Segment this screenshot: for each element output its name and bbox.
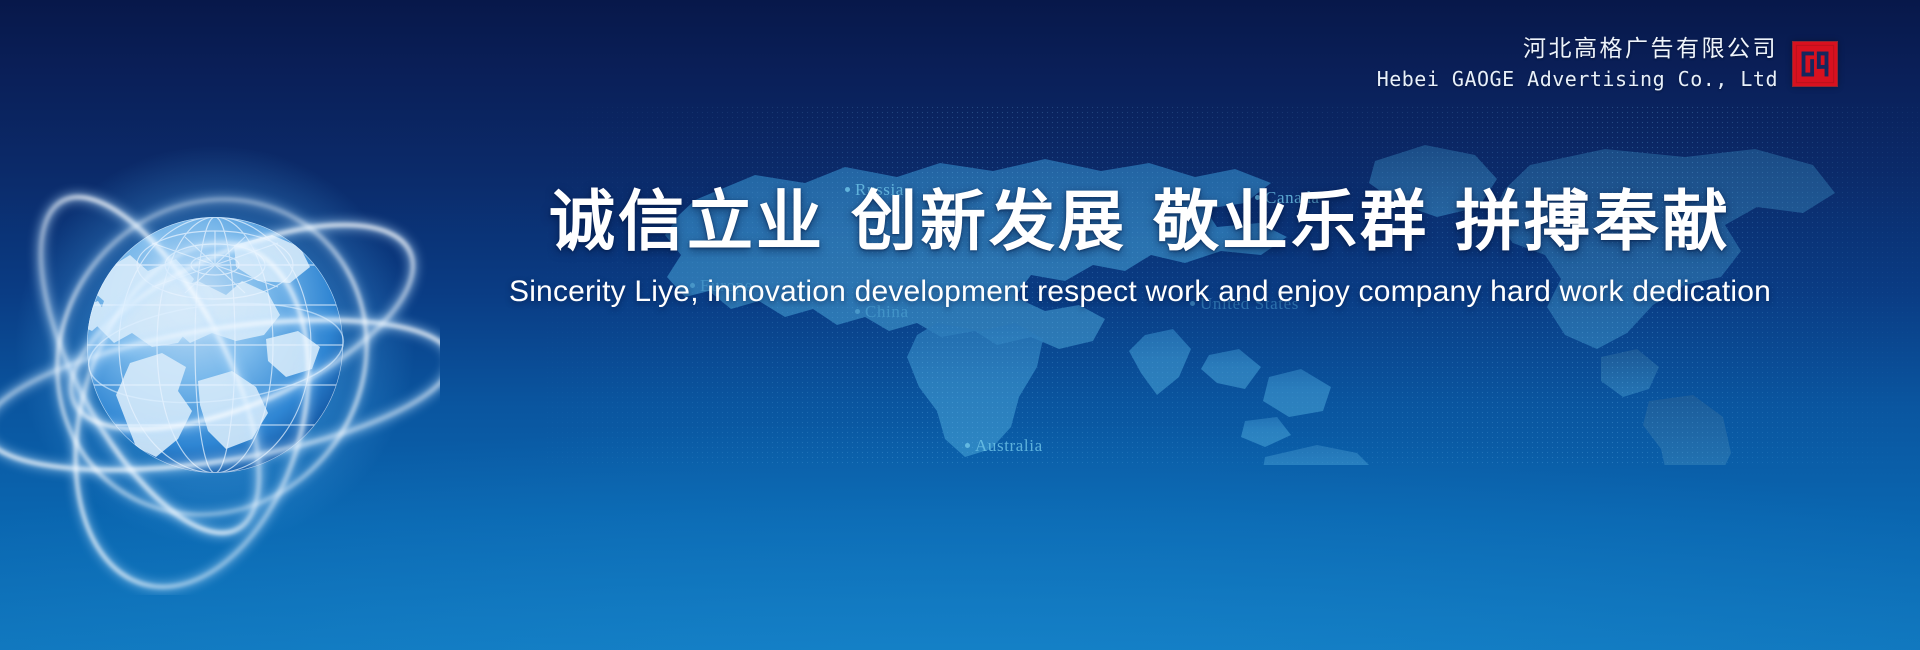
slogan-chinese: 诚信立业 创新发展 敬业乐群 拼搏奉献	[420, 185, 1860, 259]
company-name-en: Hebei GAOGE Advertising Co., Ltd	[1377, 65, 1778, 93]
map-marker-dot	[965, 443, 970, 448]
company-names: 河北高格广告有限公司 Hebei GAOGE Advertising Co., …	[1377, 34, 1778, 93]
slogan-english: Sincerity Liye, innovation development r…	[420, 273, 1860, 311]
company-identity-block: 河北高格广告有限公司 Hebei GAOGE Advertising Co., …	[1377, 34, 1838, 93]
slogan-block: 诚信立业 创新发展 敬业乐群 拼搏奉献 Sincerity Liye, inno…	[0, 185, 1920, 310]
map-label-australia: Australia	[965, 436, 1043, 456]
company-name-cn: 河北高格广告有限公司	[1523, 34, 1778, 65]
company-logo-icon	[1792, 41, 1838, 87]
company-banner: Russia Canada Europe China United States…	[0, 0, 1920, 650]
globe-orbit-graphic	[0, 95, 440, 595]
